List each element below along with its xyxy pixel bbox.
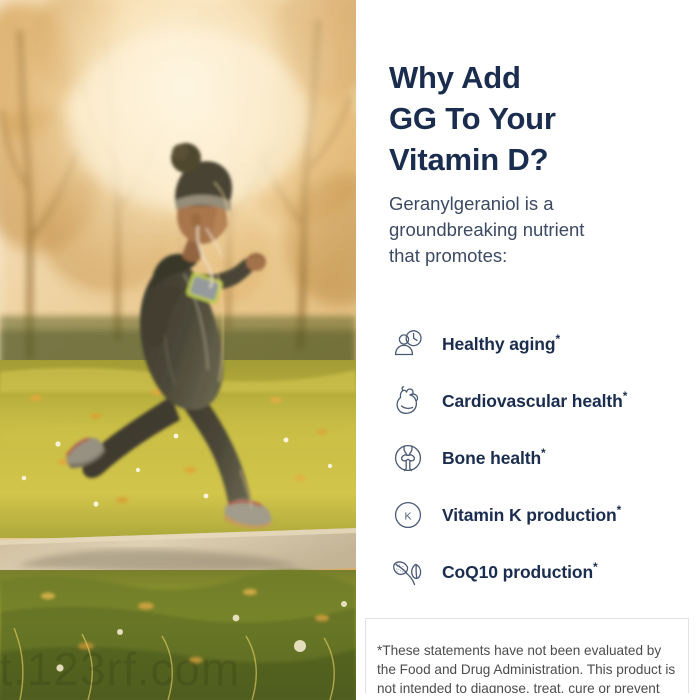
benefit-label: Vitamin K production* [442,503,621,526]
runner-photo [0,0,356,700]
benefit-item-healthy-aging: Healthy aging* [386,315,696,372]
person-clock-icon [386,322,430,366]
leaves-icon [386,550,430,594]
benefit-label: Bone health* [442,446,546,469]
content-panel: Why Add GG To Your Vitamin D? Geranylger… [356,0,700,700]
benefit-label: Cardiovascular health* [442,389,627,412]
subtitle: Geranylgeraniol is a groundbreaking nutr… [389,191,679,269]
subtitle-line-3: that promotes: [389,243,679,269]
knee-joint-circle-icon [386,436,430,480]
headline-line-1: Why Add [389,57,689,98]
promo-infographic: Why Add GG To Your Vitamin D? Geranylger… [0,0,700,700]
letter-k-circle-icon: K [386,493,430,537]
benefit-item-bone-health: Bone health* [386,429,696,486]
footnote-marker: * [555,332,560,346]
disclaimer-box: *These statements have not been evaluate… [365,618,689,693]
benefit-item-cardiovascular-health: Cardiovascular health* [386,372,696,429]
benefit-item-coq10-production: CoQ10 production* [386,543,696,600]
subtitle-line-2: groundbreaking nutrient [389,217,679,243]
subtitle-line-1: Geranylgeraniol is a [389,191,679,217]
benefit-item-vitamin-k-production: K Vitamin K production* [386,486,696,543]
footnote-marker: * [541,446,546,460]
footnote-marker: * [623,389,628,403]
heart-anatomical-icon [386,379,430,423]
benefit-label: CoQ10 production* [442,560,598,583]
footnote-marker: * [617,503,622,517]
page-title: Why Add GG To Your Vitamin D? [389,57,689,180]
headline-line-2: GG To Your [389,98,689,139]
disclaimer-text: *These statements have not been evaluate… [377,641,677,693]
footnote-marker: * [593,560,598,574]
headline-line-3: Vitamin D? [389,139,689,180]
runner-photo-illustration [0,0,356,700]
benefit-label: Healthy aging* [442,332,560,355]
benefit-list: Healthy aging* Cardiovascular health* [386,315,696,600]
svg-text:K: K [404,510,411,522]
